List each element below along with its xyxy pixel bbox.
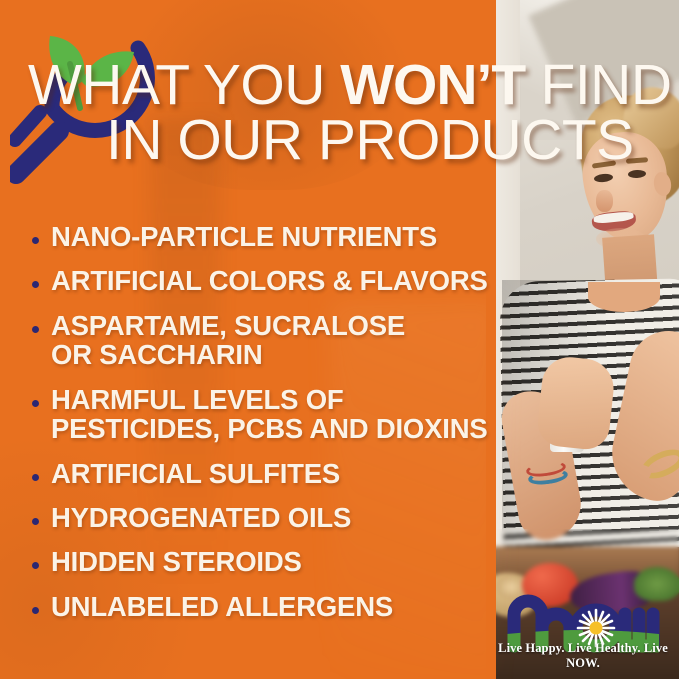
list-item-line-1: NANO-PARTICLE NUTRIENTS xyxy=(51,221,437,252)
model-nose xyxy=(596,190,613,212)
list-item-line-2: PESTICIDES, PCBS AND DIOXINS xyxy=(51,414,488,443)
list-item: HARMFUL LEVELS OF PESTICIDES, PCBS AND D… xyxy=(32,385,502,444)
list-item-text: HARMFUL LEVELS OF PESTICIDES, PCBS AND D… xyxy=(51,385,488,444)
headline-line-2: IN OUR PRODUCTS xyxy=(28,113,668,168)
list-item-text: ASPARTAME, SUCRALOSE OR SACCHARIN xyxy=(51,311,405,370)
bullet-dot-icon xyxy=(32,237,39,244)
model-hand xyxy=(535,354,616,451)
list-item-text: UNLABELED ALLERGENS xyxy=(51,592,393,621)
bullet-dot-icon xyxy=(32,607,39,614)
list-item: NANO-PARTICLE NUTRIENTS xyxy=(32,222,502,251)
bullet-dot-icon xyxy=(32,562,39,569)
list-item-line-1: HIDDEN STEROIDS xyxy=(51,546,302,577)
list-item-text: HYDROGENATED OILS xyxy=(51,503,351,532)
bullet-dot-icon xyxy=(32,518,39,525)
bullet-dot-icon xyxy=(32,474,39,481)
list-item-line-1: HYDROGENATED OILS xyxy=(51,502,351,533)
list-item-line-1: ARTIFICIAL COLORS & FLAVORS xyxy=(51,265,488,296)
bullet-dot-icon xyxy=(32,326,39,333)
promo-banner: WHAT YOU WON’T FIND IN OUR PRODUCTS NANO… xyxy=(0,0,679,679)
list-item-line-2: OR SACCHARIN xyxy=(51,340,405,369)
bullet-dot-icon xyxy=(32,281,39,288)
brand-tagline: Live Happy. Live Healthy. Live NOW. xyxy=(497,641,669,671)
bullet-dot-icon xyxy=(32,400,39,407)
list-item: ARTIFICIAL COLORS & FLAVORS xyxy=(32,266,502,295)
list-item: HYDROGENATED OILS xyxy=(32,503,502,532)
list-item: ASPARTAME, SUCRALOSE OR SACCHARIN xyxy=(32,311,502,370)
list-item-text: NANO-PARTICLE NUTRIENTS xyxy=(51,222,437,251)
list-item-line-1: ARTIFICIAL SULFITES xyxy=(51,458,340,489)
list-item: UNLABELED ALLERGENS xyxy=(32,592,502,621)
list-item: HIDDEN STEROIDS xyxy=(32,547,502,576)
excluded-ingredients-list: NANO-PARTICLE NUTRIENTS ARTIFICIAL COLOR… xyxy=(32,222,502,636)
list-item-line-1: UNLABELED ALLERGENS xyxy=(51,591,393,622)
shirt-collar xyxy=(588,282,660,312)
page-title: WHAT YOU WON’T FIND IN OUR PRODUCTS xyxy=(28,58,668,167)
list-item-text: ARTIFICIAL SULFITES xyxy=(51,459,340,488)
list-item-line-1: HARMFUL LEVELS OF xyxy=(51,384,343,415)
headline-line-1: WHAT YOU WON’T FIND xyxy=(28,58,668,113)
list-item-text: ARTIFICIAL COLORS & FLAVORS xyxy=(51,266,488,295)
list-item: ARTIFICIAL SULFITES xyxy=(32,459,502,488)
list-item-text: HIDDEN STEROIDS xyxy=(51,547,302,576)
list-item-line-1: ASPARTAME, SUCRALOSE xyxy=(51,310,405,341)
